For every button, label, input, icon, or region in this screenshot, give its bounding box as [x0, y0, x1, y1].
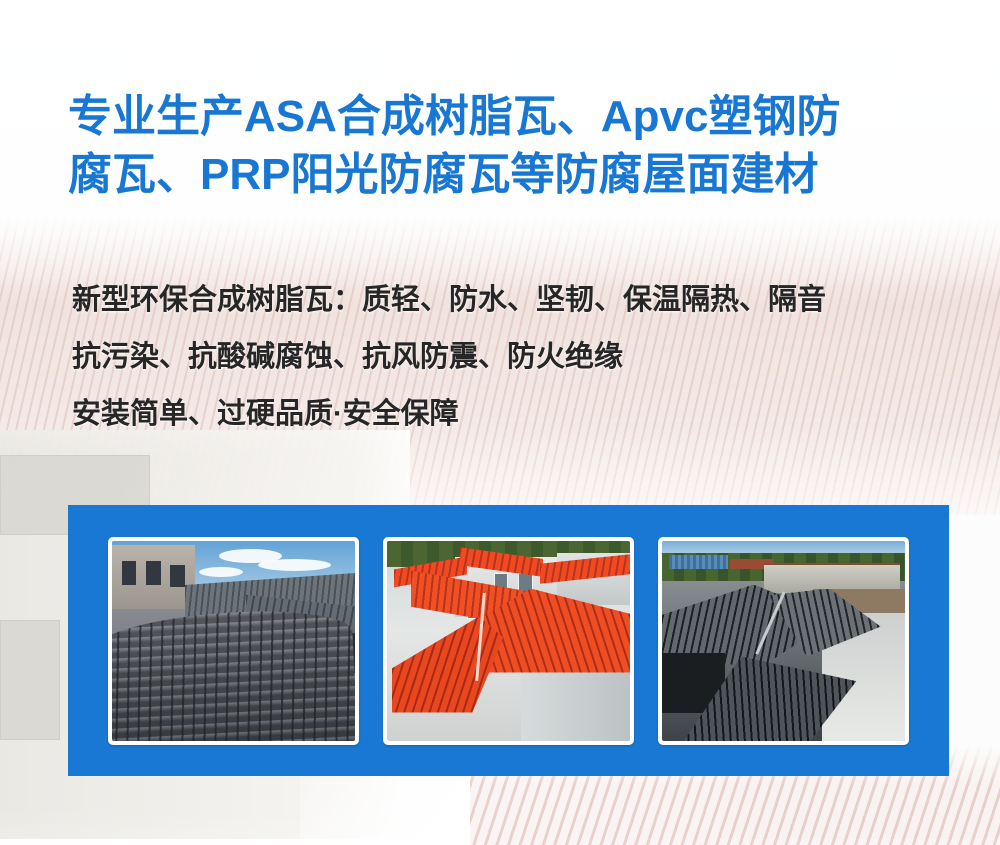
photo1-window-3	[170, 565, 185, 587]
photo1-foreground-tile-roof	[112, 606, 355, 741]
background-window-lower	[0, 620, 60, 740]
gallery-photo-3[interactable]	[658, 537, 909, 745]
page-title: 专业生产ASA合成树脂瓦、Apvc塑钢防 腐瓦、PRP阳光防腐瓦等防腐屋面建材	[68, 88, 958, 204]
photo1-cloud-3	[199, 567, 243, 577]
headline-line-2: 腐瓦、PRP阳光防腐瓦等防腐屋面建材	[68, 146, 958, 204]
gallery-photo-2[interactable]	[383, 537, 634, 745]
photo1-window-1	[122, 561, 137, 585]
photo1-cloud-2	[258, 559, 331, 571]
feature-description: 新型环保合成树脂瓦：质轻、防水、坚韧、保温隔热、隔音 抗污染、抗酸碱腐蚀、抗风防…	[72, 272, 972, 443]
feature-line-3: 安装简单、过硬品质·安全保障	[72, 386, 972, 443]
feature-line-1: 新型环保合成树脂瓦：质轻、防水、坚韧、保温隔热、隔音	[72, 272, 972, 329]
photo3-blue-shed	[669, 555, 727, 569]
headline-line-1: 专业生产ASA合成树脂瓦、Apvc塑钢防	[68, 88, 958, 146]
photo2-red-roof-main-left	[392, 617, 504, 713]
photo-gallery-panel	[68, 505, 949, 776]
dark-grey-tile-roof-wide-view-image	[662, 541, 905, 741]
red-synthetic-resin-tile-roofs-image	[387, 541, 630, 741]
photo1-window-2	[146, 561, 161, 585]
gallery-photo-1[interactable]	[108, 537, 359, 745]
photo2-foreground-building	[521, 665, 630, 741]
feature-line-2: 抗污染、抗酸碱腐蚀、抗风防震、防火绝缘	[72, 329, 972, 386]
grey-barrel-tile-roof-closeup-image	[112, 541, 355, 741]
